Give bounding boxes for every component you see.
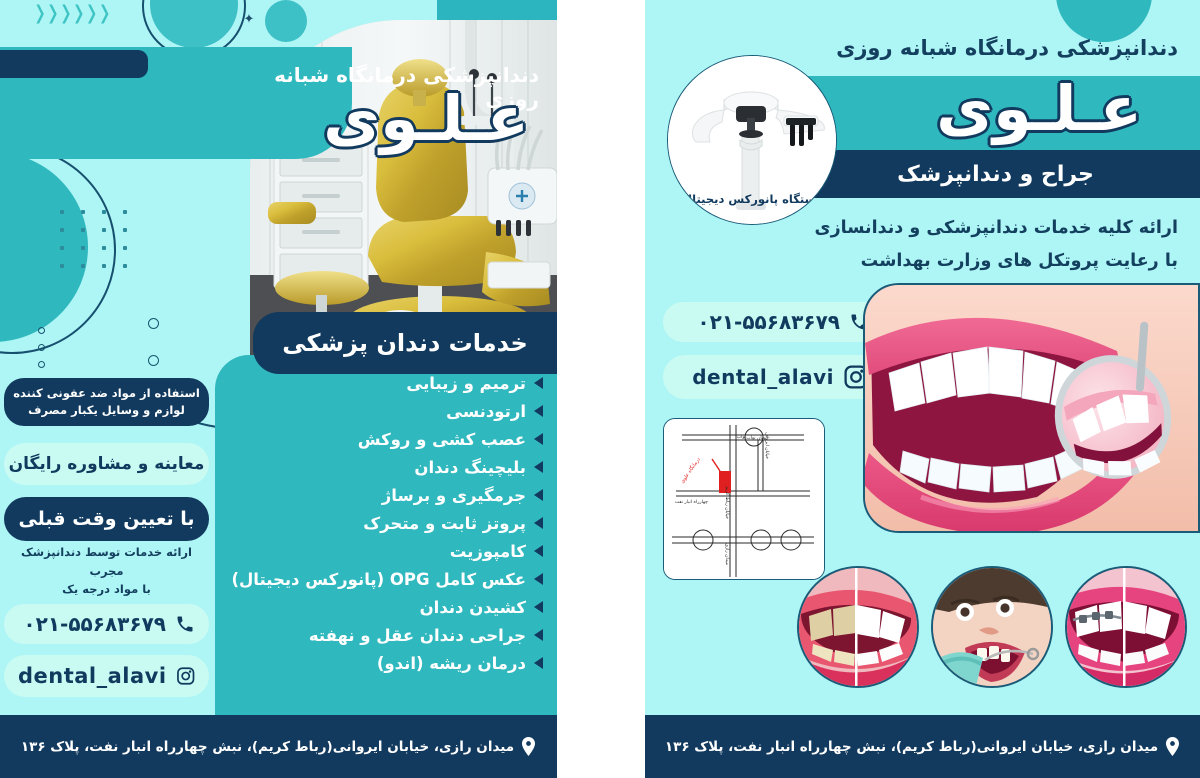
right-role-banner: جراح و دندانپزشک bbox=[791, 150, 1200, 198]
instagram-contact-left[interactable]: dental_alavi bbox=[4, 655, 209, 697]
list-item[interactable]: کامپوزیت bbox=[215, 537, 557, 565]
instagram-contact-right[interactable]: dental_alavi bbox=[663, 355, 883, 399]
phone-icon bbox=[175, 614, 195, 634]
service-label: ترمیم و زیبایی bbox=[406, 374, 526, 393]
badge-experienced-dentist: ارائه خدمات توسط دندانپزشک مجرب با مواد … bbox=[4, 550, 209, 592]
smile-with-mirror-photo bbox=[863, 283, 1200, 533]
svg-text:خیابان رباط کریم: خیابان رباط کریم bbox=[724, 486, 730, 519]
badge-free-consultation: معاینه و مشاوره رایگان bbox=[4, 443, 209, 485]
bullet-icon bbox=[534, 405, 543, 417]
svg-text:چهارراه انبار نفت: چهارراه انبار نفت bbox=[675, 500, 708, 505]
right-tagline: ارائه کلیه خدمات دندانپزشکی و دندانسازی … bbox=[748, 212, 1178, 279]
svg-text:میدان رازی: میدان رازی bbox=[724, 543, 729, 565]
list-item[interactable]: عصب کشی و روکش bbox=[215, 425, 557, 453]
service-label: کامپوزیت bbox=[450, 542, 526, 561]
right-flyer-panel: دندانپزشکی درمانگاه شبانه روزی عـلـوی جر… bbox=[645, 0, 1200, 778]
thumbnail-braces bbox=[1065, 566, 1187, 688]
address-text: میدان رازی، خیابان ایروانی(رباط کریم)، ن… bbox=[21, 739, 514, 755]
service-label: عکس کامل OPG (پانورکس دیجیتال) bbox=[231, 570, 526, 589]
badge-sterile-materials: استفاده از مواد ضد عفونی کننده لوازم و و… bbox=[4, 378, 209, 426]
right-address-footer: میدان رازی، خیابان ایروانی(رباط کریم)، ن… bbox=[645, 715, 1200, 778]
left-navy-accent-tab bbox=[0, 50, 148, 78]
badge-appointment-required: با تعیین وقت قبلی bbox=[4, 497, 209, 541]
phone-number: ۰۲۱-۵۵۶۸۳۶۷۹ bbox=[697, 310, 840, 334]
panorex-machine-photo: دستگاه پانورکس دیجیتال bbox=[667, 55, 837, 225]
left-address-footer: میدان رازی، خیابان ایروانی(رباط کریم)، ن… bbox=[0, 715, 557, 778]
instagram-handle: dental_alavi bbox=[18, 664, 167, 688]
instagram-icon bbox=[176, 664, 195, 688]
left-flyer-panel: ❬❬❬❬❬❬ ✦ bbox=[0, 0, 557, 778]
svg-text:نواب: نواب bbox=[737, 435, 746, 440]
services-title-label: خدمات دندان پزشکی bbox=[282, 329, 528, 357]
bullet-icon bbox=[534, 601, 543, 613]
tagline-line-2: با رعایت پروتکل های وزارت بهداشت bbox=[748, 245, 1178, 278]
bullet-icon bbox=[534, 657, 543, 669]
service-label: جرمگیری و برساژ bbox=[382, 486, 526, 505]
left-services-panel: ترمیم و زیبایی ارتودنسی عصب کشی و روکش ب… bbox=[215, 355, 557, 715]
location-pin-icon bbox=[1165, 737, 1180, 756]
bullet-icon bbox=[534, 433, 543, 445]
phone-number: ۰۲۱-۵۵۶۸۳۶۷۹ bbox=[23, 612, 166, 636]
service-label: ارتودنسی bbox=[446, 402, 526, 421]
list-item[interactable]: پروتز ثابت و متحرک bbox=[215, 509, 557, 537]
role-label: جراح و دندانپزشک bbox=[897, 162, 1094, 187]
service-label: درمان ریشه (اندو) bbox=[377, 654, 526, 673]
tagline-line-1: ارائه کلیه خدمات دندانپزشکی و دندانسازی bbox=[748, 212, 1178, 245]
bullet-icon bbox=[534, 517, 543, 529]
bullet-icon bbox=[534, 489, 543, 501]
thumbnail-pediatric-treatment bbox=[931, 566, 1053, 688]
bullet-icon bbox=[534, 545, 543, 557]
bullet-icon bbox=[534, 629, 543, 641]
location-pin-icon bbox=[521, 737, 536, 756]
list-item[interactable]: جراحی دندان عقل و نهفته bbox=[215, 621, 557, 649]
service-label: پروتز ثابت و متحرک bbox=[363, 514, 526, 533]
service-label: عصب کشی و روکش bbox=[358, 430, 526, 449]
address-text: میدان رازی، خیابان ایروانی(رباط کریم)، ن… bbox=[665, 739, 1158, 755]
service-label: بلیچینگ دندان bbox=[414, 458, 526, 477]
dot-grid-decoration bbox=[60, 210, 127, 268]
service-label: جراحی دندان عقل و نهفته bbox=[309, 626, 526, 645]
right-clinic-subtitle: دندانپزشکی درمانگاه شبانه روزی bbox=[758, 36, 1178, 60]
brochure-canvas: ❬❬❬❬❬❬ ✦ bbox=[0, 0, 1200, 778]
list-item[interactable]: عکس کامل OPG (پانورکس دیجیتال) bbox=[215, 565, 557, 593]
services-list: ترمیم و زیبایی ارتودنسی عصب کشی و روکش ب… bbox=[215, 369, 557, 677]
list-item[interactable]: بلیچینگ دندان bbox=[215, 453, 557, 481]
bullet-icon bbox=[534, 461, 543, 473]
chevron-decoration-icon: ❬❬❬❬❬❬ bbox=[32, 4, 110, 23]
thumbnail-whitening bbox=[797, 566, 919, 688]
list-item[interactable]: کشیدن دندان bbox=[215, 593, 557, 621]
svg-text:خیابان ایروانی: خیابان ایروانی bbox=[764, 432, 769, 459]
panorex-caption: دستگاه پانورکس دیجیتال bbox=[668, 192, 836, 206]
list-item[interactable]: جرمگیری و برساژ bbox=[215, 481, 557, 509]
bullet-icon bbox=[534, 377, 543, 389]
instagram-handle: dental_alavi bbox=[692, 365, 834, 389]
phone-contact-left[interactable]: ۰۲۱-۵۵۶۸۳۶۷۹ bbox=[4, 604, 209, 644]
bullet-icon bbox=[534, 573, 543, 585]
service-label: کشیدن دندان bbox=[420, 598, 526, 617]
left-clinic-name: عـلـوی bbox=[219, 88, 529, 150]
list-item[interactable]: درمان ریشه (اندو) bbox=[215, 649, 557, 677]
location-map-graphic[interactable]: درمانگاه علوی نواب اتوبان نواب چهارراه ا… bbox=[663, 418, 825, 580]
phone-contact-right[interactable]: ۰۲۱-۵۵۶۸۳۶۷۹ bbox=[663, 302, 883, 342]
services-title-banner: خدمات دندان پزشکی bbox=[253, 312, 557, 374]
list-item[interactable]: ارتودنسی bbox=[215, 397, 557, 425]
